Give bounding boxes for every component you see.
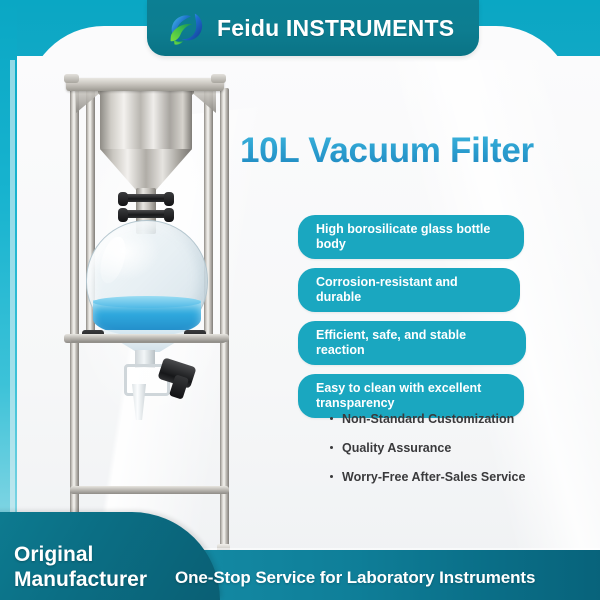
top-plate-cap-left	[64, 74, 79, 83]
hopper-cylinder	[100, 90, 192, 150]
original-manufacturer-line1: Original	[14, 542, 214, 567]
frame-rod-right-inner	[204, 88, 213, 338]
leaf-swirl-logo-icon	[166, 7, 208, 49]
top-plate	[66, 78, 224, 91]
clamp-knob	[118, 208, 128, 222]
service-bullet: Worry-Free After-Sales Service	[329, 469, 579, 485]
frame-rail-lower	[70, 486, 229, 494]
frame-rail-upper	[70, 334, 229, 342]
footer-tagline: One-Stop Service for Laboratory Instrume…	[175, 568, 595, 588]
clamp-knob	[164, 192, 174, 206]
flask-liquid-surface	[93, 296, 201, 308]
product-image	[48, 62, 258, 532]
feature-pill: High borosilicate glass bottle body	[298, 215, 524, 259]
product-poster: Feidu INSTRUMENTS	[0, 0, 600, 600]
feature-pill: Corrosion-resistant and durable	[298, 268, 520, 312]
page-title: 10L Vacuum Filter	[240, 131, 590, 171]
service-bullet: Quality Assurance	[329, 440, 579, 456]
clamp-knob	[118, 192, 128, 206]
neck-clamp-lower	[124, 210, 168, 218]
top-plate-cap-right	[211, 74, 226, 83]
service-bullet: Non-Standard Customization	[329, 411, 579, 427]
brand-header-badge: Feidu INSTRUMENTS	[147, 0, 479, 56]
feature-pill: Efficient, safe, and stable reaction	[298, 321, 526, 365]
left-accent-stripe-inner	[10, 60, 15, 540]
brand-name: Feidu INSTRUMENTS	[217, 15, 454, 42]
neck-clamp-upper	[124, 194, 168, 202]
clamp-knob	[164, 208, 174, 222]
service-bullet-list: Non-Standard Customization Quality Assur…	[329, 411, 579, 498]
feature-pill-list: High borosilicate glass bottle body Corr…	[298, 215, 530, 427]
